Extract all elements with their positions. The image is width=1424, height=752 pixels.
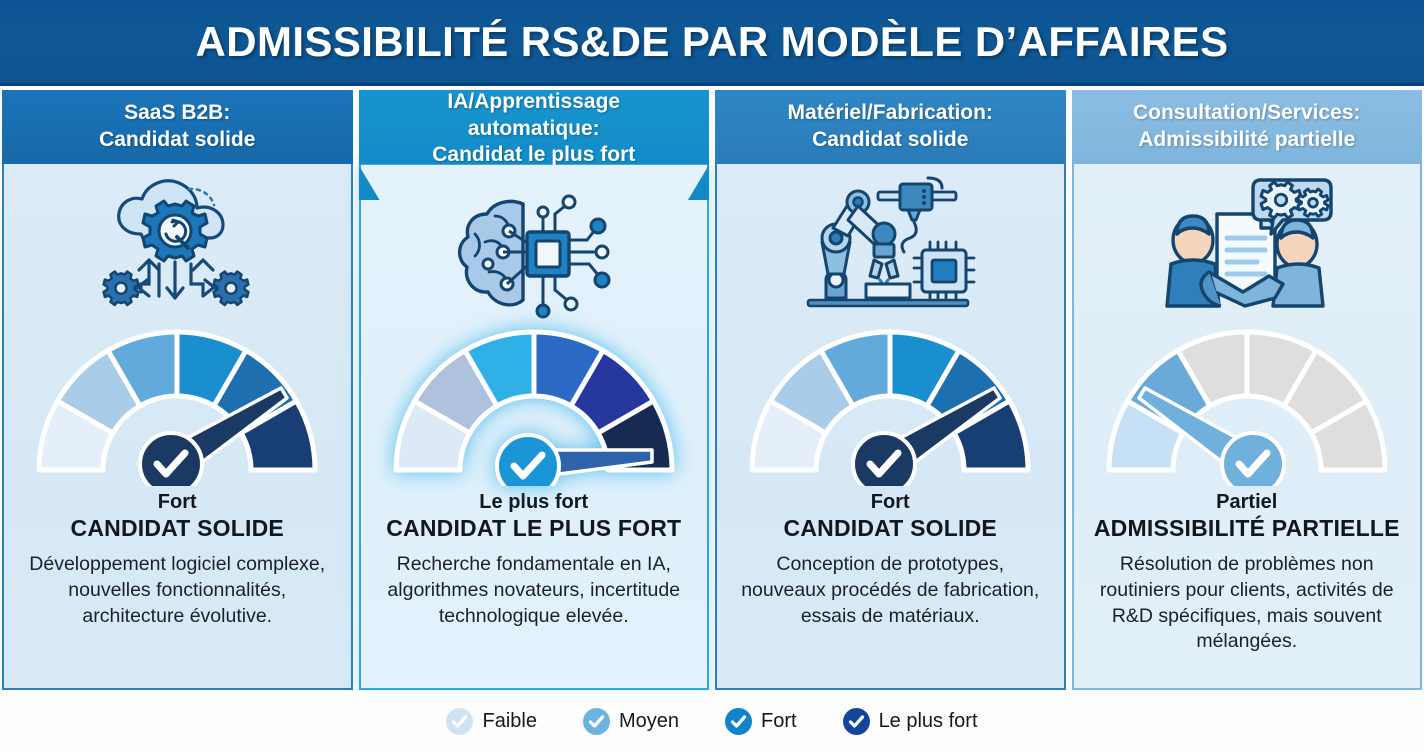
gauge-caps-label: CANDIDAT LE PLUS FORT [371, 515, 698, 543]
column-saas-b2b: SaaS B2B: Candidat solide [2, 90, 353, 690]
icon-area [1074, 164, 1421, 314]
legend: Faible Moyen Fort Le plus fort [0, 690, 1424, 752]
handshake-document-icon [1157, 172, 1337, 312]
column-title-line1: IA/Apprentissage [432, 89, 635, 116]
page-title: ADMISSIBILITÉ RS&DE PAR MODÈLE D’AFFAIRE… [195, 18, 1228, 66]
column-title-hardware: Matériel/Fabrication: Candidat solide [715, 90, 1066, 164]
column-title-line2: automatique: [432, 116, 635, 143]
gauge-caps-label: ADMISSIBILITÉ PARTIELLE [1084, 515, 1411, 543]
column-title-consulting: Consultation/Services: Admissibilité par… [1072, 90, 1423, 164]
gauge-level-label: Le plus fort [371, 491, 698, 515]
column-title-saas-b2b: SaaS B2B: Candidat solide [2, 90, 353, 164]
gauge-level-label: Partiel [1084, 491, 1411, 515]
legend-label: Fort [761, 710, 797, 733]
legend-item-le-plus-fort: Le plus fort [843, 708, 978, 735]
gauge-labels: Le plus fort CANDIDAT LE PLUS FORT [361, 489, 708, 542]
column-description: Développement logiciel complexe, nouvell… [4, 542, 351, 641]
column-consulting-services: Consultation/Services: Admissibilité par… [1072, 90, 1423, 690]
brain-chip-icon [451, 194, 616, 324]
column-title-line1: SaaS B2B: [99, 100, 255, 127]
gauge-saas-b2b [27, 318, 327, 486]
card-saas-b2b: Fort CANDIDAT SOLIDE Développement logic… [2, 164, 353, 690]
gauge-area [4, 314, 351, 489]
check-circle-icon [446, 708, 473, 735]
gauge-area [361, 314, 708, 489]
column-description: Recherche fondamentale en IA, algorithme… [361, 542, 708, 641]
header-bar: ADMISSIBILITÉ RS&DE PAR MODÈLE D’AFFAIRE… [0, 0, 1424, 86]
column-hardware-manufacturing: Matériel/Fabrication: Candidat solide [715, 90, 1066, 690]
card-hardware: Fort CANDIDAT SOLIDE Conception de proto… [715, 164, 1066, 690]
icon-area [361, 164, 708, 314]
column-ai-ml: IA/Apprentissage automatique: Candidat l… [359, 90, 710, 690]
gauge-labels: Fort CANDIDAT SOLIDE [4, 489, 351, 542]
gauge-area [717, 314, 1064, 489]
columns-container: SaaS B2B: Candidat solide [0, 90, 1424, 690]
column-description: Résolution de problèmes non routiniers p… [1074, 542, 1421, 667]
check-circle-icon [843, 708, 870, 735]
check-circle-icon [583, 708, 610, 735]
column-description: Conception de prototypes, nouveaux procé… [717, 542, 1064, 641]
column-title-line1: Matériel/Fabrication: [788, 100, 993, 127]
gauge-caps-label: CANDIDAT SOLIDE [727, 515, 1054, 543]
column-title-line2: Admissibilité partielle [1133, 127, 1361, 154]
gauge-labels: Fort CANDIDAT SOLIDE [717, 489, 1064, 542]
icon-area [4, 164, 351, 314]
gauge-level-label: Fort [727, 491, 1054, 515]
card-consulting: Partiel ADMISSIBILITÉ PARTIELLE Résoluti… [1072, 164, 1423, 690]
legend-item-moyen: Moyen [583, 708, 679, 735]
icon-area [717, 164, 1064, 314]
card-ai-ml: Le plus fort CANDIDAT LE PLUS FORT Reche… [359, 164, 710, 690]
legend-item-faible: Faible [446, 708, 536, 735]
robot-arm-printer-chip-icon [800, 172, 980, 312]
cloud-gear-icon [97, 172, 257, 312]
legend-item-fort: Fort [725, 708, 797, 735]
gauge-area [1074, 314, 1421, 489]
infographic-page: ADMISSIBILITÉ RS&DE PAR MODÈLE D’AFFAIRE… [0, 0, 1424, 752]
legend-label: Le plus fort [879, 710, 978, 733]
legend-label: Faible [482, 710, 536, 733]
gauge-level-label: Fort [14, 491, 341, 515]
column-title-line1: Consultation/Services: [1133, 100, 1361, 127]
gauge-caps-label: CANDIDAT SOLIDE [14, 515, 341, 543]
legend-label: Moyen [619, 710, 679, 733]
column-title-line2: Candidat solide [788, 127, 993, 154]
gauge-hardware [740, 318, 1040, 486]
gauge-labels: Partiel ADMISSIBILITÉ PARTIELLE [1074, 489, 1421, 542]
column-title-line2: Candidat solide [99, 127, 255, 154]
gauge-ai-ml [384, 318, 684, 486]
check-circle-icon [725, 708, 752, 735]
gauge-consulting [1097, 318, 1397, 486]
